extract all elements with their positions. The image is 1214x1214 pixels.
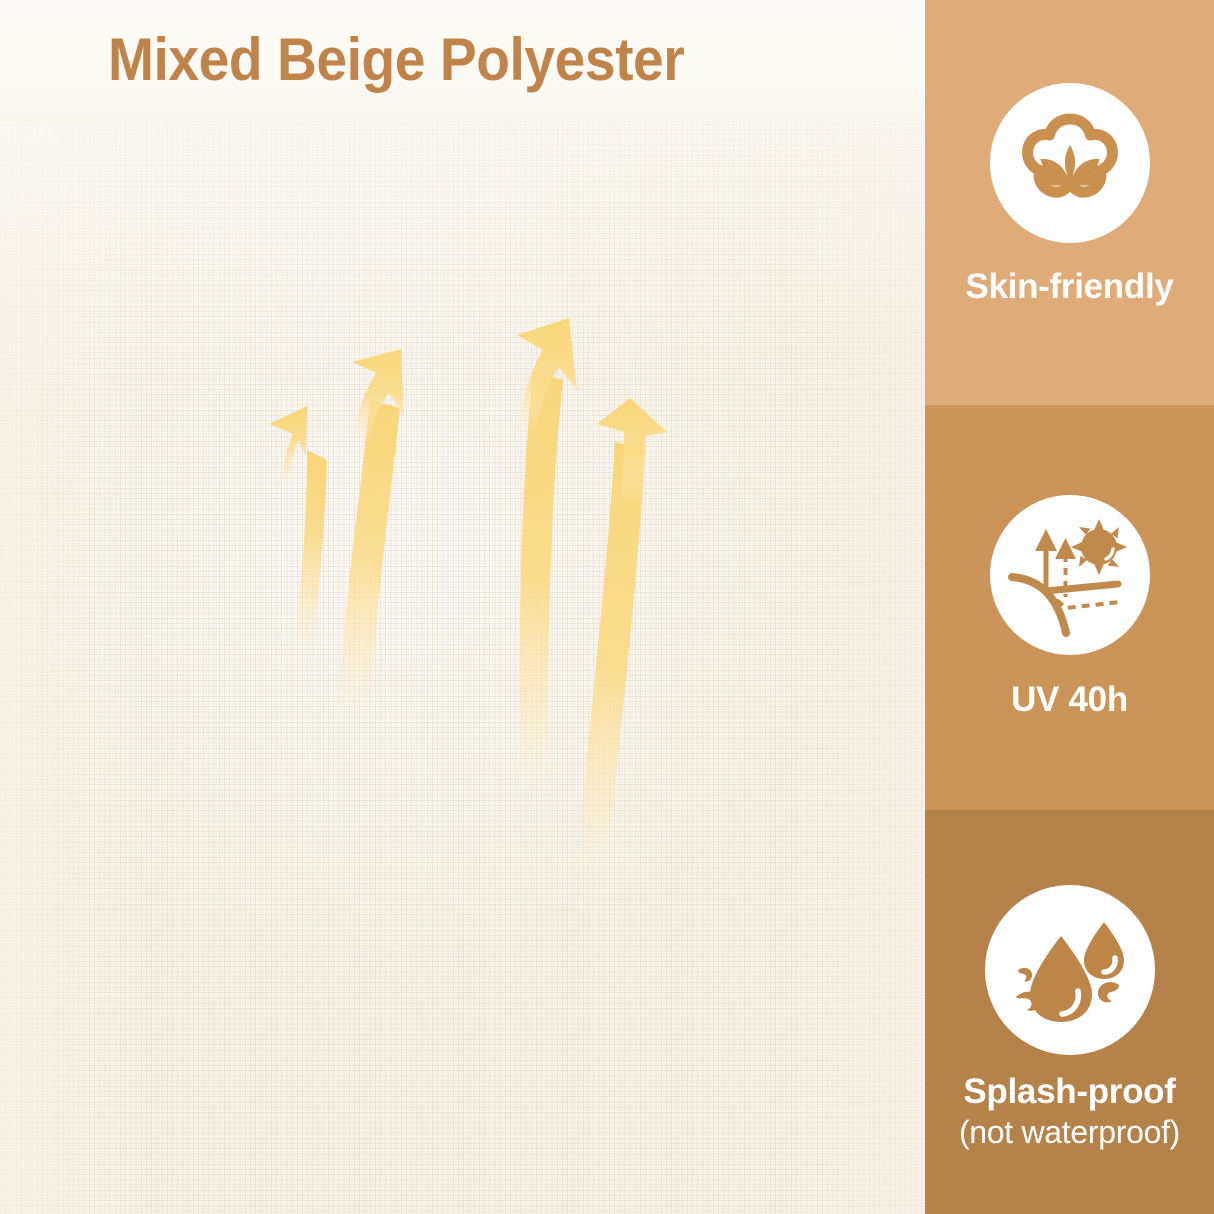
- feature-card-uv-protection: UV 40h: [925, 405, 1214, 810]
- water-droplet-splash-icon: [1000, 900, 1140, 1040]
- feature-card-splash-proof: Splash-proof (not waterproof): [925, 810, 1214, 1214]
- cotton-boll-icon: [1004, 97, 1136, 229]
- feature-label-splash-proof: Splash-proof: [963, 1072, 1175, 1112]
- feature-label-skin-friendly: Skin-friendly: [965, 267, 1173, 307]
- feature-sublabel-splash-proof: (not waterproof): [959, 1113, 1180, 1151]
- page-title: Mixed Beige Polyester: [108, 25, 835, 95]
- feature-icon-badge: [985, 885, 1155, 1055]
- uv-sun-shield-icon: [1000, 505, 1140, 645]
- cotton-leaves: [1034, 145, 1106, 186]
- feature-card-skin-friendly: Skin-friendly: [925, 0, 1214, 405]
- sun-glyph: [1071, 519, 1127, 575]
- feature-icon-badge: [990, 495, 1150, 655]
- feature-label-uv: UV 40h: [1011, 680, 1128, 720]
- fabric-weave-texture: [0, 122, 925, 1214]
- feature-icon-badge: [990, 83, 1150, 243]
- fabric-swatch-panel: Mixed Beige Polyester: [0, 0, 925, 1214]
- feature-column: Skin-friendly: [925, 0, 1214, 1214]
- product-feature-poster: Mixed Beige Polyester: [0, 0, 1214, 1214]
